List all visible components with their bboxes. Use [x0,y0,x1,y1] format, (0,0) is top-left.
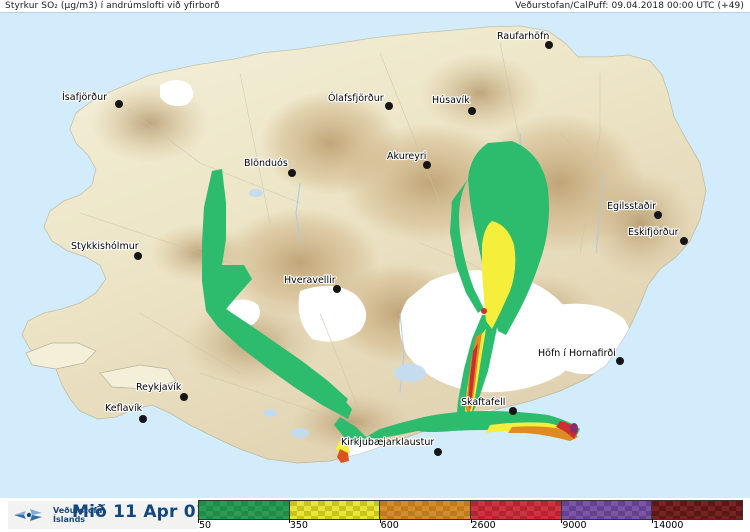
city-label: Ólafsfjörður [328,92,384,104]
colorbar-segment [651,501,742,519]
city-label: Ísafjörður [62,91,107,103]
city-label: Höfn í Hornafirði [538,348,616,359]
colorbar-segment [561,501,652,519]
city-label: Skaftafell [461,397,505,408]
colorbar-segment [470,501,561,519]
city-dot-icon [288,169,296,177]
city-label: Blönduós [244,158,288,169]
city-label: Raufarhöfn [497,31,549,42]
city-dot-icon [509,407,517,415]
colorbar-segment [199,501,289,519]
colorbar-strip [198,500,743,520]
city-label: Kirkjubæjarklaustur [341,437,434,448]
colorbar-tick-label: 14000 [652,520,683,531]
colorbar-tick-labels: 503506002600900014000 [198,520,743,532]
page-title: Styrkur SO₂ (µg/m3) í andrúmslofti við y… [5,1,220,11]
city-dot-icon [134,252,142,260]
city-label: Húsavík [432,95,470,106]
city-label: Akureyri [387,151,426,162]
map-canvas[interactable]: ÍsafjörðurRaufarhöfnÓlafsfjörðurHúsavíkB… [0,13,750,498]
colorbar-tick-label: 350 [289,520,308,531]
city-dot-icon [654,211,662,219]
colorbar-tick-label: 600 [380,520,399,531]
city-label: Reykjavík [136,382,182,393]
weather-vane-icon [8,503,52,527]
city-label: Egilsstaðir [607,201,656,212]
colorbar-tick-label: 50 [198,520,211,531]
city-dot-icon [385,102,393,110]
colorbar-tick-label: 2600 [471,520,496,531]
city-label: Eskifjörður [628,227,679,238]
colorbar-segment [289,501,380,519]
city-dot-icon [333,285,341,293]
colorbar-segment [379,501,470,519]
city-dot-icon [468,107,476,115]
source-timestamp: Veðurstofan/CalPuff: 09.04.2018 00:00 UT… [515,1,744,11]
legend-colorbar[interactable]: 503506002600900014000 [198,500,743,532]
colorbar-tick-label: 9000 [561,520,586,531]
plume-south-coast-core [570,423,578,433]
city-label: Hveravellir [284,275,336,286]
plume-source-marker [481,308,487,314]
city-dot-icon [616,357,624,365]
header-bar: Styrkur SO₂ (µg/m3) í andrúmslofti við y… [0,0,750,13]
city-dot-icon [139,415,147,423]
so2-forecast-map-window: Styrkur SO₂ (µg/m3) í andrúmslofti við y… [0,0,750,532]
city-dot-icon [423,161,431,169]
city-label: Stykkishólmur [71,241,139,252]
city-dot-icon [680,237,688,245]
city-dot-icon [545,41,553,49]
city-dot-icon [434,448,442,456]
city-label: Keflavík [105,403,143,414]
city-dot-icon [115,100,123,108]
city-dot-icon [180,393,188,401]
